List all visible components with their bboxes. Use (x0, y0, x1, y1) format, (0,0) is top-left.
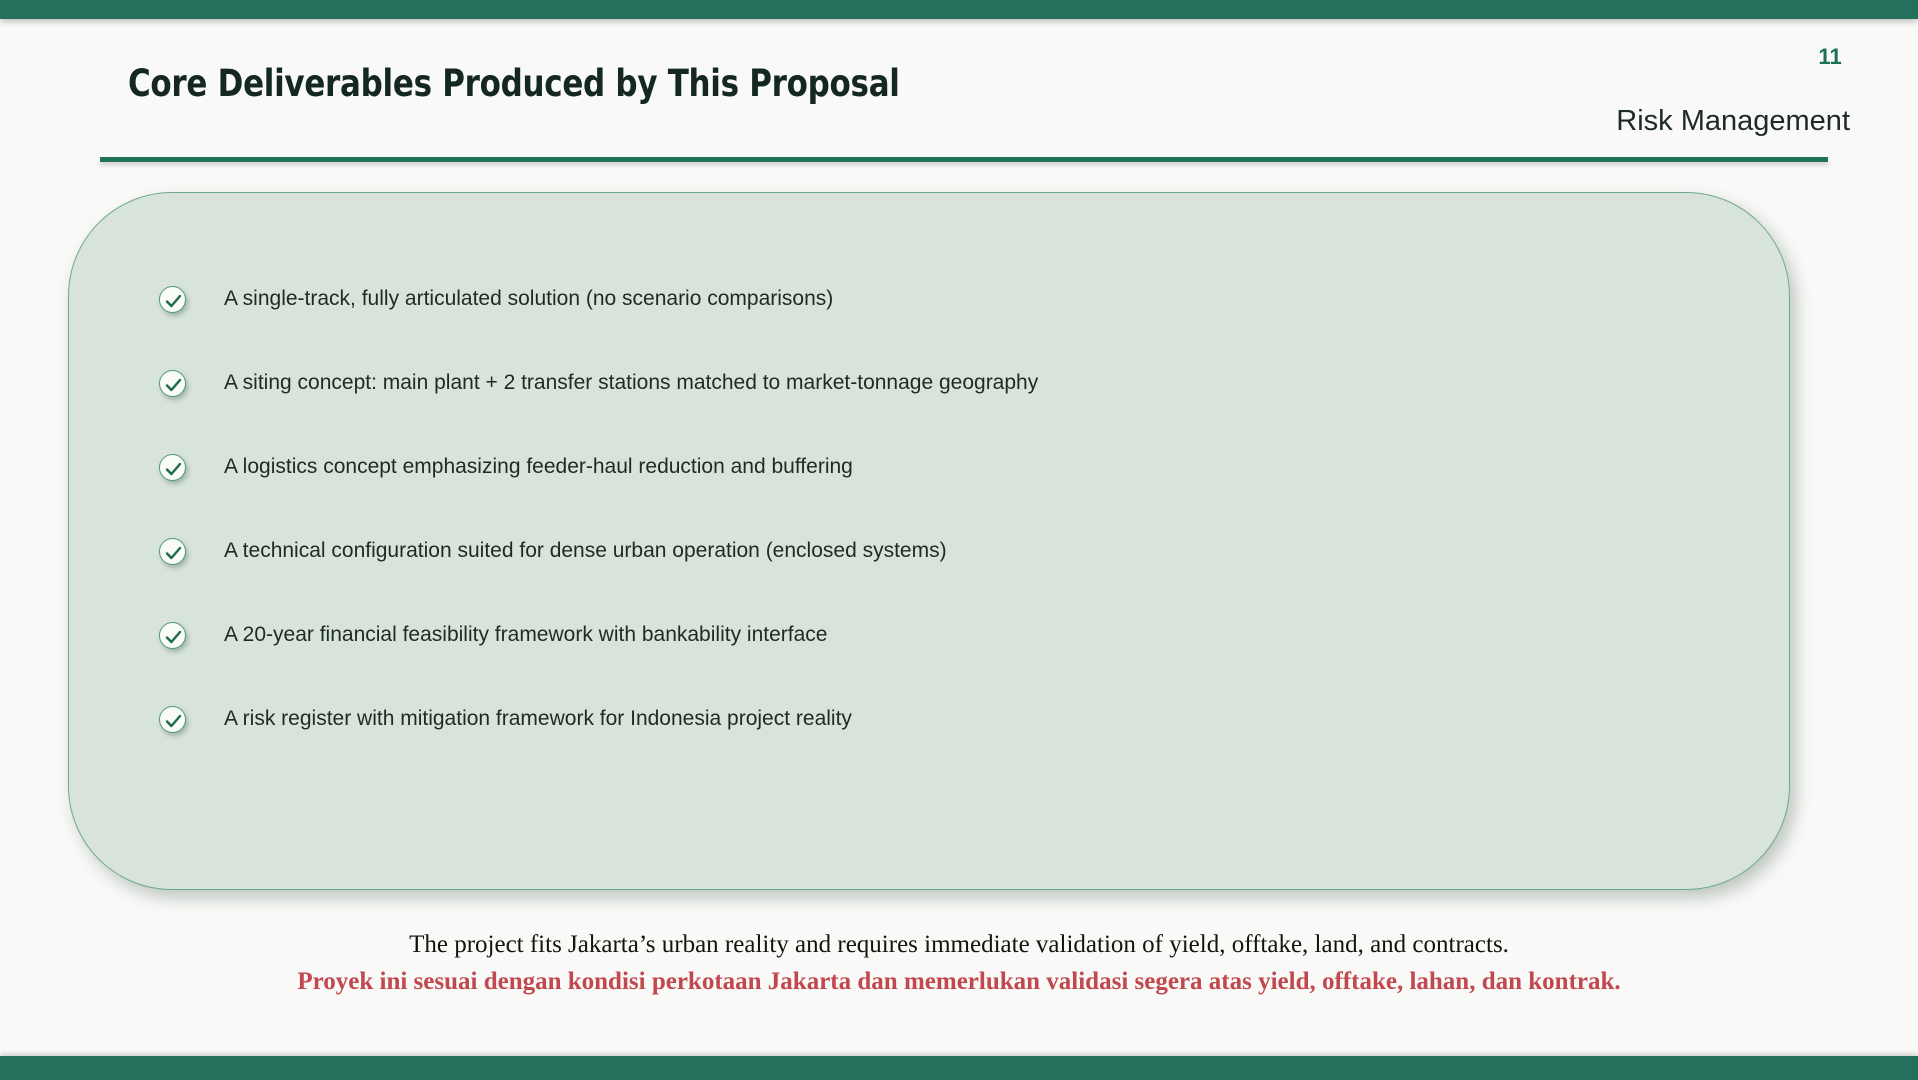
footer-line-indonesian: Proyek ini sesuai dengan kondisi perkota… (0, 965, 1918, 999)
list-item: A siting concept: main plant + 2 transfe… (159, 341, 1719, 425)
top-accent-bar (0, 0, 1918, 19)
page-number: 11 (1818, 44, 1842, 70)
list-item: A 20-year financial feasibility framewor… (159, 593, 1719, 677)
footer-line-english: The project fits Jakarta’s urban reality… (0, 928, 1918, 962)
page-title: Core Deliverables Produced by This Propo… (128, 62, 900, 105)
list-item-label: A risk register with mitigation framewor… (224, 706, 852, 731)
check-circle-icon (159, 538, 186, 565)
list-item-label: A 20-year financial feasibility framewor… (224, 622, 827, 647)
deliverables-list: A single-track, fully articulated soluti… (159, 257, 1719, 761)
check-circle-icon (159, 370, 186, 397)
list-item: A logistics concept emphasizing feeder-h… (159, 425, 1719, 509)
section-label: Risk Management (1616, 105, 1850, 138)
list-item-label: A technical configuration suited for den… (224, 538, 947, 563)
check-circle-icon (159, 622, 186, 649)
deliverables-card: A single-track, fully articulated soluti… (68, 192, 1790, 890)
footer: The project fits Jakarta’s urban reality… (0, 928, 1918, 999)
check-circle-icon (159, 286, 186, 313)
header-divider (100, 157, 1828, 162)
list-item-label: A single-track, fully articulated soluti… (224, 286, 833, 311)
list-item: A technical configuration suited for den… (159, 509, 1719, 593)
bottom-accent-bar (0, 1056, 1918, 1080)
list-item: A risk register with mitigation framewor… (159, 677, 1719, 761)
list-item: A single-track, fully articulated soluti… (159, 257, 1719, 341)
list-item-label: A logistics concept emphasizing feeder-h… (224, 454, 853, 479)
list-item-label: A siting concept: main plant + 2 transfe… (224, 370, 1038, 395)
check-circle-icon (159, 706, 186, 733)
check-circle-icon (159, 454, 186, 481)
